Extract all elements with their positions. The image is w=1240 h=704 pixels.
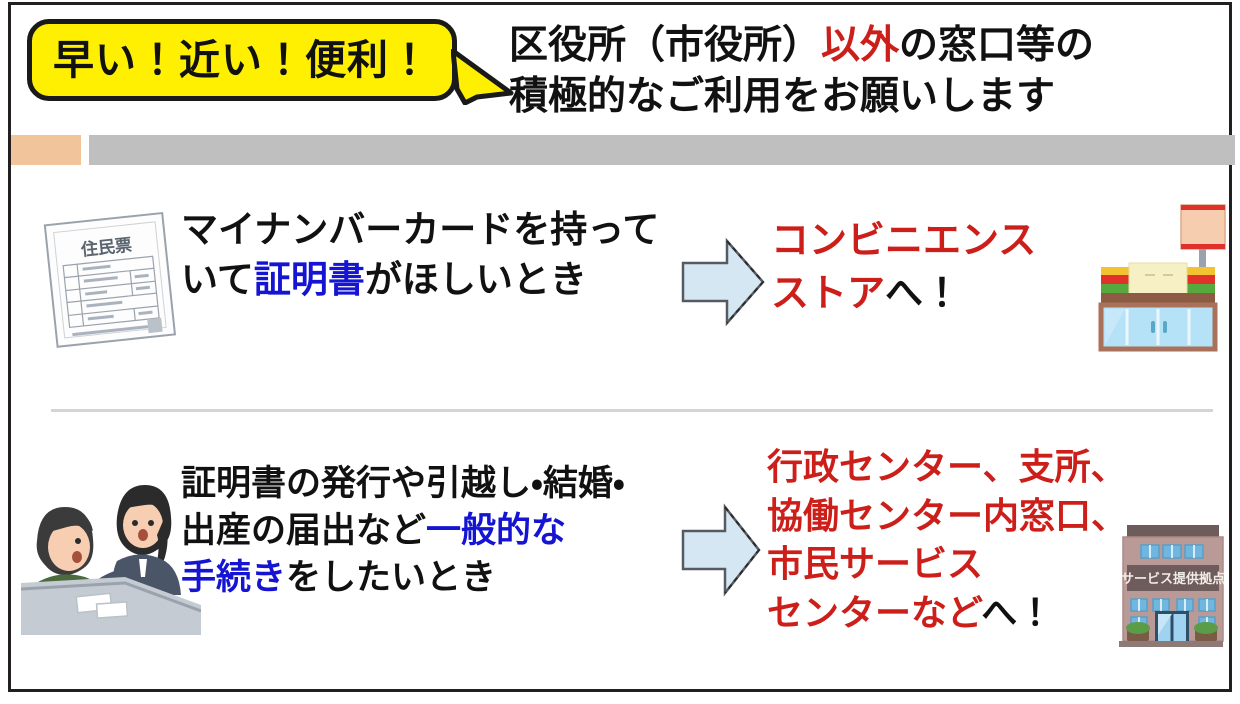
callout-bubble: 早い！近い！便利！ bbox=[27, 19, 457, 101]
divider-band bbox=[11, 135, 1235, 165]
row2-destination-suffix: へ！ bbox=[981, 592, 1053, 633]
row2-condition-highlight-1: 一般的な bbox=[426, 511, 566, 550]
row2-condition-text: 証明書の発行や引越し・結婚・ 出産の届出など一般的な 手続きをしたいとき bbox=[181, 461, 625, 602]
residence-certificate-icon: 住民票 bbox=[39, 201, 179, 361]
row1-destination-suffix: へ！ bbox=[885, 273, 961, 315]
row2-destination-line-4: センターなどへ！ bbox=[767, 589, 1127, 638]
service-center-building-icon: サービス提供拠点 bbox=[1097, 511, 1240, 651]
right-arrow-icon bbox=[679, 237, 767, 327]
row1-condition-line-2: いて証明書がほしいとき bbox=[181, 255, 659, 305]
right-arrow-icon bbox=[679, 503, 763, 597]
content-row-convenience-store: 住民票 bbox=[11, 175, 1235, 395]
row1-destination-line-1: コンビニエンス bbox=[771, 215, 1036, 268]
row2-condition-line-1: 証明書の発行や引越し・結婚・ bbox=[181, 461, 625, 508]
counter-service-illustration-icon bbox=[21, 465, 201, 635]
content-frame: 早い！近い！便利！ 区役所（市役所）以外の窓口等の 積極的なご利用をお願いします bbox=[8, 2, 1232, 692]
building-sign-text: サービス提供拠点 bbox=[1121, 571, 1225, 586]
row2-condition-line2-a: 出産の届出など bbox=[181, 511, 426, 550]
row2-condition-highlight-2: 手続き bbox=[181, 558, 286, 597]
header-message-line-1: 区役所（市役所）以外の窓口等の bbox=[509, 21, 1209, 72]
header-message: 区役所（市役所）以外の窓口等の 積極的なご利用をお願いします bbox=[509, 21, 1209, 122]
row2-condition-line-3: 手続きをしたいとき bbox=[181, 555, 625, 602]
row1-condition-highlight: 証明書 bbox=[254, 259, 365, 300]
row-divider-rule bbox=[51, 409, 1213, 412]
row1-condition-line2-b: がほしいとき bbox=[365, 259, 587, 300]
row1-destination-line-2: ストアへ！ bbox=[771, 268, 1036, 321]
row2-destination-line-3: 市民サービス bbox=[767, 540, 1127, 589]
row2-condition-line-2: 出産の届出など一般的な bbox=[181, 508, 625, 555]
row2-destination-line-1: 行政センター、支所、 bbox=[767, 443, 1127, 492]
convenience-store-icon bbox=[1083, 197, 1233, 357]
divider-band-accent bbox=[11, 135, 81, 165]
row1-condition-line-1: マイナンバーカードを持って bbox=[181, 205, 659, 255]
callout-bubble-text: 早い！近い！便利！ bbox=[53, 40, 431, 81]
header-line1-part-a: 区役所（市役所） bbox=[509, 24, 821, 67]
callout-bubble-tail-icon bbox=[451, 49, 515, 105]
row2-destination-line-2: 協働センター内窓口、 bbox=[767, 492, 1127, 541]
header: 早い！近い！便利！ 区役所（市役所）以外の窓口等の 積極的なご利用をお願いします bbox=[11, 5, 1235, 133]
header-line1-highlight: 以外 bbox=[821, 24, 899, 67]
poster-root: 早い！近い！便利！ 区役所（市役所）以外の窓口等の 積極的なご利用をお願いします bbox=[0, 0, 1240, 704]
row2-condition-line3-b: をしたいとき bbox=[286, 558, 496, 597]
row2-destination-text: 行政センター、支所、 協働センター内窓口、 市民サービス センターなどへ！ bbox=[767, 443, 1127, 637]
row1-destination-text: コンビニエンス ストアへ！ bbox=[771, 215, 1036, 321]
row2-destination-line4-text: センターなど bbox=[767, 592, 981, 633]
row1-condition-line2-a: いて bbox=[181, 259, 254, 300]
divider-band-bar bbox=[89, 135, 1235, 165]
header-message-line-2: 積極的なご利用をお願いします bbox=[509, 72, 1209, 123]
header-line1-part-b: の窓口等の bbox=[899, 24, 1094, 67]
row1-destination-line2-text: ストア bbox=[771, 273, 885, 315]
content-row-service-center: 証明書の発行や引越し・結婚・ 出産の届出など一般的な 手続きをしたいとき 行政セ… bbox=[11, 425, 1235, 675]
row1-condition-text: マイナンバーカードを持って いて証明書がほしいとき bbox=[181, 205, 659, 306]
